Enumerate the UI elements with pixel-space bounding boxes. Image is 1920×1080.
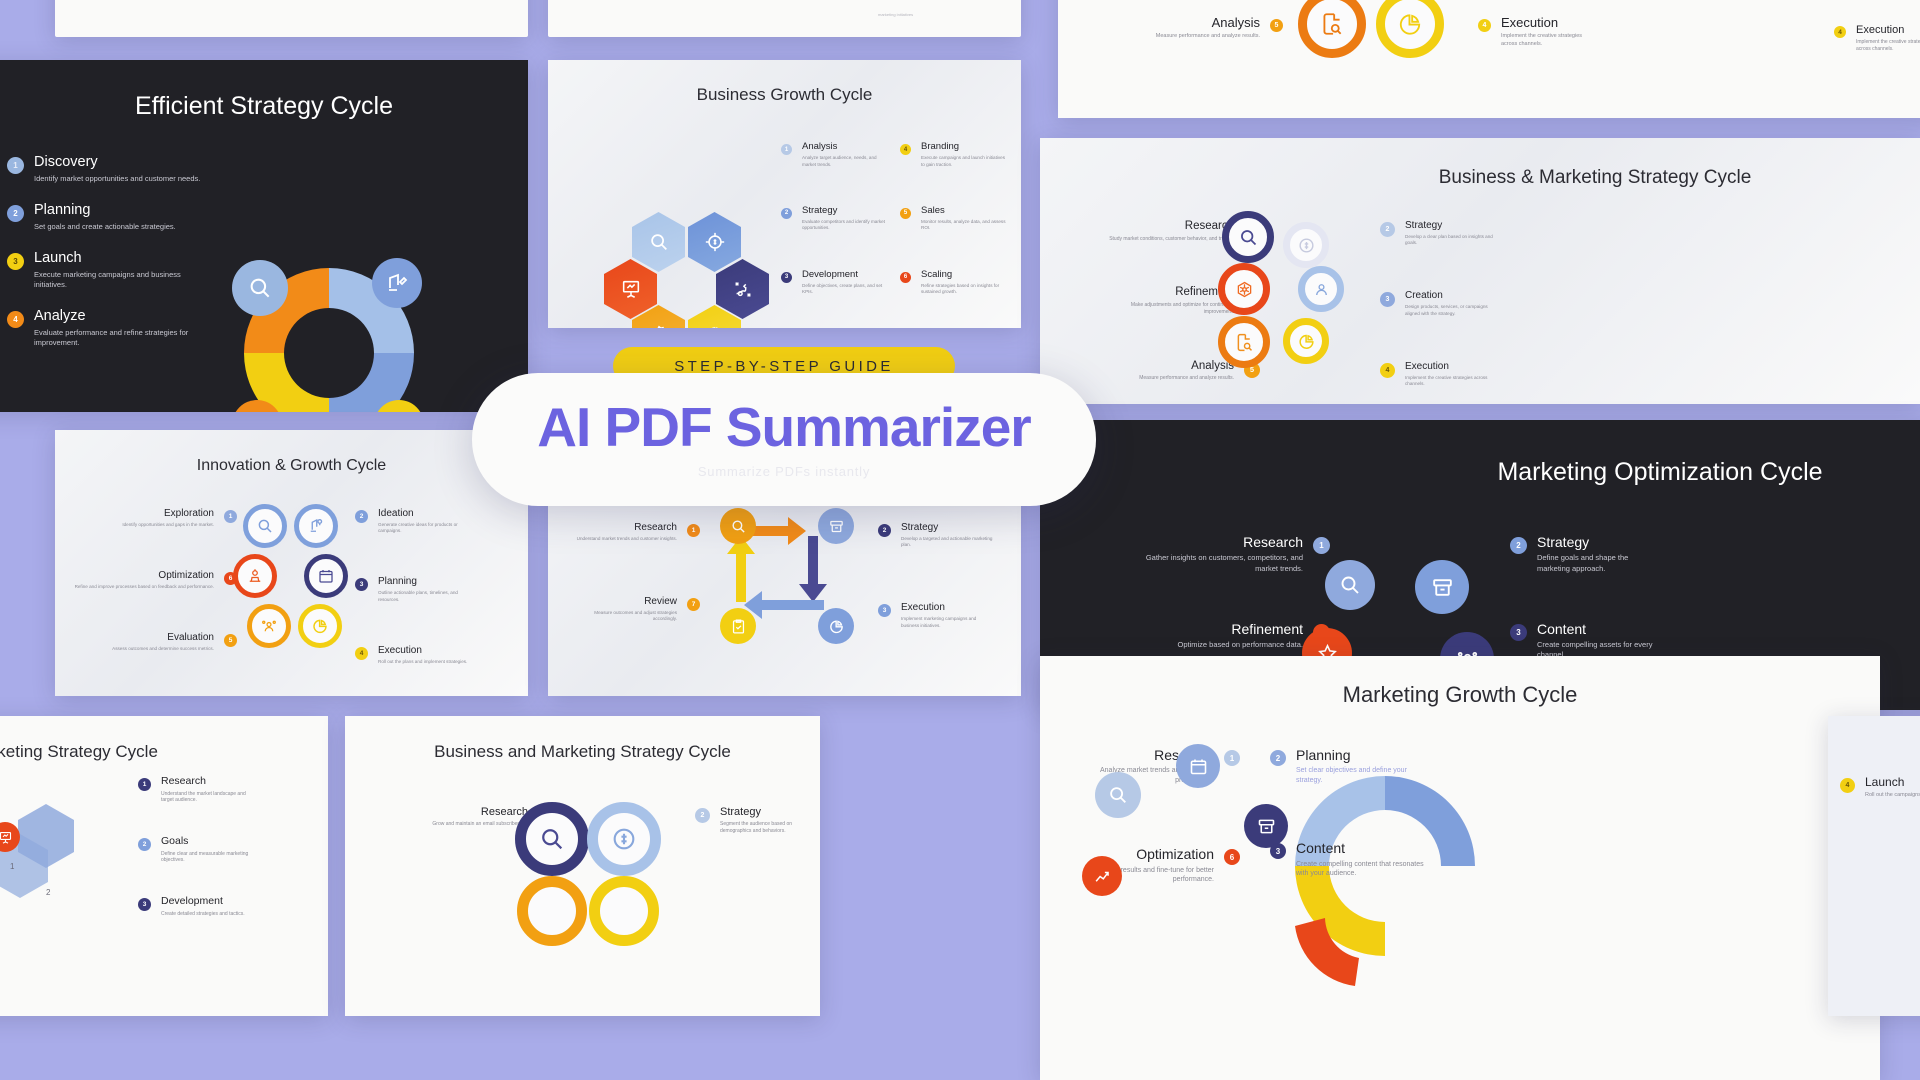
- partial-text: marketing initiatives: [878, 12, 913, 17]
- search-icon: [720, 508, 756, 544]
- pie-chart-icon: [818, 608, 854, 644]
- step-item[interactable]: 3 Content Create compelling content that…: [1270, 841, 1510, 878]
- icon-ring-partial-orange: [517, 876, 587, 946]
- step-item[interactable]: 3 Creation Design products, services, or…: [1380, 290, 1530, 316]
- step-item[interactable]: 1 Exploration Identify opportunities and…: [67, 508, 237, 528]
- step-name: Scaling: [921, 270, 1008, 280]
- icon-ring-idea: [294, 504, 338, 548]
- slide-marketing-growth-cycle[interactable]: Marketing Growth Cycle 1 Research Analyz…: [1040, 656, 1880, 1080]
- step-desc: Design products, services, or campaigns …: [1405, 304, 1503, 316]
- step-badge: 2: [781, 208, 792, 219]
- step-badge: 5: [900, 208, 911, 219]
- hex-label-2: 2: [46, 888, 50, 897]
- step-item[interactable]: 1 Discovery Identify market opportunitie…: [7, 155, 212, 184]
- step-badge: 7: [687, 598, 700, 611]
- step-badge: 4: [7, 311, 24, 328]
- page-title: Business Growth Cycle: [548, 85, 1021, 105]
- step-name: Strategy: [1537, 535, 1657, 550]
- step-name: Content: [1537, 622, 1657, 637]
- step-name: Branding: [921, 142, 1008, 152]
- step-badge: 1: [781, 144, 792, 155]
- presentation-growth-icon-hex: [604, 259, 657, 319]
- step-name: Development: [161, 896, 257, 908]
- step-badge: 3: [878, 604, 891, 617]
- step-badge: 1: [7, 157, 24, 174]
- icon-ring-search: [515, 802, 589, 876]
- step-item[interactable]: 2 Strategy Segment the audience based on…: [695, 806, 820, 835]
- step-item[interactable]: 3 Planning Outline actionable plans, tim…: [355, 576, 515, 602]
- step-name: Optimization: [1060, 847, 1214, 862]
- step-desc: Create detailed strategies and tactics.: [161, 911, 257, 918]
- step-desc: Assess outcomes and determine success me…: [112, 646, 214, 652]
- step-desc: Evaluate performance and refine strategi…: [34, 328, 212, 348]
- step-name: Execution: [1501, 16, 1593, 30]
- edit-document-icon: [372, 258, 422, 308]
- step-badge: 4: [900, 144, 911, 155]
- step-item[interactable]: 5 Evaluation Assess outcomes and determi…: [67, 632, 237, 652]
- step-item[interactable]: 3 Launch Execute marketing campaigns and…: [7, 251, 212, 290]
- step-item[interactable]: 2 Ideation Generate creative ideas for p…: [355, 508, 515, 534]
- step-badge: 2: [355, 510, 368, 523]
- step-desc: Generate creative ideas for products or …: [378, 522, 478, 534]
- step-desc: Optimize based on performance data.: [1178, 640, 1304, 650]
- step-item[interactable]: 1 Analysis Analyze target audience, need…: [781, 142, 889, 168]
- step-badge: 5: [224, 634, 237, 647]
- step-desc: Understand the market landscape and targ…: [161, 791, 257, 805]
- step-desc: Roll out the campaigns: [1865, 792, 1920, 799]
- growth-chart-icon: [1082, 856, 1122, 896]
- product-title-badge[interactable]: AI PDF Summarizer Summarize PDFs instant…: [472, 373, 1096, 506]
- slide-analysis-card-top[interactable]: 5 Analysis Measure performance and analy…: [1058, 0, 1920, 118]
- step-badge: 3: [138, 898, 151, 911]
- icon-ring-calendar: [304, 554, 348, 598]
- pill-label: STEP-BY-STEP GUIDE: [674, 358, 894, 375]
- search-icon: [232, 260, 288, 316]
- step-item[interactable]: 4 Execution Implement the creative strat…: [1380, 361, 1530, 387]
- step-desc: Evaluate competitors and identify market…: [802, 219, 889, 231]
- step-desc: Refine and improve processes based on fe…: [75, 584, 214, 590]
- step-badge: 2: [7, 205, 24, 222]
- search-icon-hex: [632, 212, 685, 272]
- step-item[interactable]: 5 Analysis Measure performance and analy…: [1083, 16, 1283, 41]
- step-name: Ideation: [378, 508, 478, 519]
- step-name: Exploration: [122, 508, 214, 519]
- step-desc: Measure outcomes and adjust strategies a…: [570, 610, 677, 622]
- step-badge: 4: [1478, 19, 1491, 32]
- icon-ring-people: [247, 604, 291, 648]
- slide-business-growth-cycle[interactable]: Business Growth Cycle 1 Analysis Analyze…: [548, 60, 1021, 328]
- step-badge: 6: [900, 272, 911, 283]
- step-name: Refinement: [1100, 286, 1234, 299]
- icon-ring-search: [1222, 211, 1274, 263]
- step-item[interactable]: 6 Optimization Refine and improve proces…: [67, 570, 237, 590]
- icon-ring-dollar-circle: [1283, 222, 1329, 268]
- step-badge: 4: [355, 647, 368, 660]
- page-title: Innovation & Growth Cycle: [55, 457, 528, 475]
- icon-ring-people: [1298, 266, 1344, 312]
- step-badge: 3: [1270, 843, 1286, 859]
- step-badge: 3: [7, 253, 24, 270]
- step-item[interactable]: 3 Development Create detailed strategies…: [138, 896, 298, 917]
- step-desc: Measure performance and analyze results.: [1139, 375, 1234, 382]
- step-name: Strategy: [1405, 220, 1503, 231]
- page-title: AI PDF Summarizer: [537, 400, 1030, 455]
- icon-ring-pie-chart: [1376, 0, 1444, 58]
- step-item[interactable]: 2 Goals Define clear and measurable mark…: [138, 836, 298, 864]
- step-name: Research: [1130, 535, 1303, 550]
- step-name: Analysis: [1139, 360, 1234, 373]
- step-item[interactable]: 3 Development Define objectives, create …: [781, 270, 889, 296]
- step-desc: Execute marketing campaigns and business…: [34, 270, 212, 290]
- page-title: Business & Marketing Strategy Cycle: [1040, 167, 1920, 189]
- page-title: Business and Marketing Strategy Cycle: [345, 742, 820, 762]
- step-name: Content: [1296, 841, 1426, 856]
- step-item[interactable]: 7 Review Measure outcomes and adjust str…: [570, 596, 700, 622]
- step-desc: Measure performance and analyze results.: [1156, 33, 1260, 40]
- step-name: Execution: [378, 645, 478, 656]
- step-desc: Implement the creative strategies across…: [1856, 39, 1920, 53]
- icon-ring-award: [233, 554, 277, 598]
- step-desc: Implement marketing campaigns and busine…: [901, 616, 993, 628]
- slide-marketing-strategy-cycle[interactable]: Marketing Strategy Cycle 1 2 1 Research …: [0, 716, 328, 1016]
- step-item[interactable]: 2 Strategy Define goals and shape the ma…: [1510, 535, 1710, 574]
- step-badge: 1: [138, 778, 151, 791]
- step-item[interactable]: 6 Scaling Refine strategies based on ins…: [900, 270, 1008, 296]
- icon-ring-pie-chart: [1283, 318, 1329, 364]
- strategy-path-icon-hex: [716, 259, 769, 319]
- step-name: Execution: [1856, 24, 1920, 36]
- step-item[interactable]: 1 Research Understand the market landsca…: [138, 776, 298, 804]
- step-desc: Study market conditions, customer behavi…: [1109, 236, 1234, 243]
- slide-partial-top-center[interactable]: marketing initiatives: [548, 0, 1021, 37]
- slide-partial-top-left[interactable]: [55, 0, 528, 37]
- step-name: Creation: [1405, 290, 1503, 301]
- step-name: Research: [1109, 220, 1234, 233]
- step-desc: Make adjustments and optimize for contin…: [1100, 302, 1234, 316]
- step-name: Planning: [34, 203, 176, 219]
- step-item[interactable]: 1 Research Gather insights on customers,…: [1130, 535, 1330, 574]
- step-item[interactable]: 4 Execution Roll out the plans and imple…: [355, 645, 515, 665]
- page-title: Marketing Growth Cycle: [1040, 682, 1880, 708]
- archive-icon: [818, 508, 854, 544]
- calendar-icon: [1176, 744, 1220, 788]
- slide-partial-top-right[interactable]: 4 Execution Implement the creative strat…: [1826, 10, 1920, 106]
- step-badge: 3: [1510, 624, 1527, 641]
- step-desc: Develop a targeted and actionable market…: [901, 536, 993, 548]
- step-desc: Refine strategies based on insights for …: [921, 283, 1008, 295]
- step-badge: 1: [1313, 537, 1330, 554]
- step-item[interactable]: 2 Planning Set goals and create actionab…: [7, 203, 212, 232]
- step-name: Goals: [161, 836, 257, 848]
- step-desc: Monitor results, analyze data, and asses…: [921, 219, 1008, 231]
- step-item[interactable]: 5 Sales Monitor results, analyze data, a…: [900, 206, 1008, 232]
- step-desc: Create compelling content that resonates…: [1296, 860, 1426, 879]
- step-name: Launch: [1865, 776, 1920, 789]
- step-item[interactable]: 3 Execution Implement marketing campaign…: [878, 602, 1018, 628]
- step-desc: Set goals and create actionable strategi…: [34, 222, 176, 232]
- step-item[interactable]: 3 Content Create compelling assets for e…: [1510, 622, 1710, 661]
- icon-ring-dollar-circle: [587, 802, 661, 876]
- step-desc: Develop a clear plan based on insights a…: [1405, 234, 1503, 246]
- collage-stage: marketing initiatives 5 Analysis Measure…: [0, 0, 1920, 1080]
- step-badge: 1: [687, 524, 700, 537]
- step-name: Planning: [1296, 748, 1426, 763]
- icon-ring-partial-yellow: [589, 876, 659, 946]
- step-badge: 6: [1224, 849, 1240, 865]
- step-item[interactable]: 4 Launch Roll out the campaigns: [1840, 776, 1920, 800]
- page-title: Marketing Strategy Cycle: [0, 742, 328, 762]
- step-name: Analysis: [802, 142, 889, 152]
- step-name: Optimization: [75, 570, 214, 581]
- icon-ring-network-hex: [1218, 263, 1270, 315]
- step-badge: 5: [1270, 19, 1283, 32]
- step-desc: Define objectives, create plans, and set…: [802, 283, 889, 295]
- archive-icon: [1415, 560, 1469, 614]
- step-desc: Roll out the plans and implement strateg…: [378, 659, 478, 665]
- search-icon: [1325, 560, 1375, 610]
- step-desc: Set clear objectives and define your str…: [1296, 766, 1426, 785]
- step-desc: Identify market opportunities and custom…: [34, 174, 200, 184]
- step-badge: 4: [1380, 363, 1395, 378]
- step-item[interactable]: 4 Analyze Evaluate performance and refin…: [7, 309, 212, 348]
- step-name: Strategy: [802, 206, 889, 216]
- step-name: Execution: [1405, 361, 1503, 372]
- step-badge: 2: [695, 808, 710, 823]
- step-name: Sales: [921, 206, 1008, 216]
- slide-efficient-strategy-cycle[interactable]: Efficient Strategy Cycle 1 Discovery Ide…: [0, 60, 528, 412]
- icon-ring-pie-chart: [298, 604, 342, 648]
- step-badge: 3: [781, 272, 792, 283]
- step-badge: 2: [138, 838, 151, 851]
- step-badge: 2: [878, 524, 891, 537]
- step-desc: Implement the creative strategies across…: [1405, 375, 1503, 387]
- step-item[interactable]: 2 Strategy Develop a targeted and action…: [878, 522, 1018, 548]
- hex-ring-graphic: [0, 798, 108, 928]
- icon-ring-document-search: [1218, 316, 1270, 368]
- step-badge: 2: [1510, 537, 1527, 554]
- step-item[interactable]: 2 Strategy Evaluate competitors and iden…: [781, 206, 889, 232]
- step-desc: Define goals and shape the marketing app…: [1537, 553, 1657, 573]
- step-item[interactable]: 4 Branding Execute campaigns and launch …: [900, 142, 1008, 168]
- step-name: Analyze: [34, 309, 212, 325]
- step-name: Strategy: [720, 806, 806, 818]
- step-name: Execution: [901, 602, 993, 613]
- step-item[interactable]: 2 Planning Set clear objectives and defi…: [1270, 748, 1510, 785]
- icon-ring-document-search: [1298, 0, 1366, 58]
- page-subtitle: Summarize PDFs instantly: [698, 464, 870, 479]
- slide-innovation-growth-cycle[interactable]: Innovation & Growth Cycle 1 Exploration …: [55, 430, 528, 696]
- step-name: Development: [802, 270, 889, 280]
- step-name: Planning: [378, 576, 478, 587]
- step-name: Launch: [34, 251, 212, 267]
- step-name: Research: [161, 776, 257, 788]
- step-name: Research: [577, 522, 677, 533]
- step-name: Research: [432, 806, 528, 818]
- search-icon: [1095, 772, 1141, 818]
- step-desc: Segment the audience based on demographi…: [720, 821, 806, 835]
- step-name: Evaluation: [112, 632, 214, 643]
- slide-business-marketing-strategy-cycle[interactable]: Business & Marketing Strategy Cycle 1 Re…: [1040, 138, 1920, 404]
- step-name: Strategy: [901, 522, 993, 533]
- step-badge: 2: [1380, 222, 1395, 237]
- step-item[interactable]: 4 Execution Implement the creative strat…: [1478, 16, 1668, 48]
- step-item[interactable]: 2 Strategy Develop a clear plan based on…: [1380, 220, 1530, 246]
- step-desc: Gather insights on customers, competitor…: [1130, 553, 1303, 573]
- step-item[interactable]: 6 Refinement Optimize based on performan…: [1130, 622, 1330, 651]
- step-name: Refinement: [1178, 622, 1304, 637]
- step-badge: 3: [355, 578, 368, 591]
- step-desc: Define clear and measurable marketing ob…: [161, 851, 257, 865]
- step-item[interactable]: 1 Research Understand market trends and …: [570, 522, 700, 542]
- step-desc: Implement the creative strategies across…: [1501, 33, 1593, 48]
- slide-business-and-marketing-strategy-cycle[interactable]: Business and Marketing Strategy Cycle 1 …: [345, 716, 820, 1016]
- step-desc: Identify opportunities and gaps in the m…: [122, 522, 214, 528]
- step-name: Discovery: [34, 155, 200, 171]
- step-badge: 4: [1840, 778, 1855, 793]
- step-badge: 1: [1224, 750, 1240, 766]
- slide-partial-bottom-right[interactable]: 4 Launch Roll out the campaigns: [1828, 716, 1920, 1016]
- page-title: Marketing Optimization Cycle: [1040, 458, 1920, 487]
- step-desc: Execute campaigns and launch initiatives…: [921, 155, 1008, 167]
- step-desc: Understand market trends and customer in…: [577, 536, 677, 542]
- step-desc: Grow and maintain an email subscriber li…: [432, 821, 528, 828]
- page-title: Efficient Strategy Cycle: [0, 92, 528, 121]
- step-name: Review: [570, 596, 677, 607]
- hex-label-1: 1: [10, 862, 14, 871]
- step-badge: 1: [224, 510, 237, 523]
- step-badge: 2: [1270, 750, 1286, 766]
- clipboard-check-icon: [720, 608, 756, 644]
- step-badge: 4: [1834, 26, 1846, 38]
- step-desc: Outline actionable plans, timelines, and…: [378, 590, 478, 602]
- step-badge: 3: [1380, 292, 1395, 307]
- icon-ring-search: [243, 504, 287, 548]
- step-name: Analysis: [1156, 16, 1260, 30]
- target-dollar-icon-hex: [688, 212, 741, 272]
- step-desc: Analyze target audience, needs, and mark…: [802, 155, 889, 167]
